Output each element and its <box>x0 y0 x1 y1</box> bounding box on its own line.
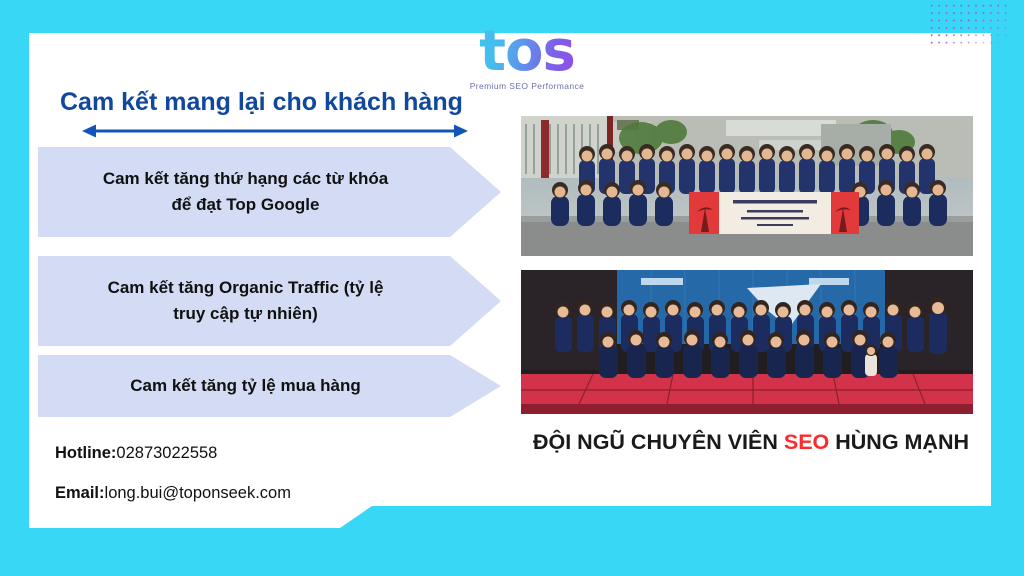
photos-caption-part1: ĐỘI NGŨ CHUYÊN VIÊN <box>533 430 784 454</box>
photos-caption: ĐỘI NGŨ CHUYÊN VIÊN SEO HÙNG MẠNH <box>521 430 981 455</box>
photos-caption-highlight: SEO <box>784 430 829 454</box>
tos-logo: tos Premium SEO Performance <box>452 24 602 96</box>
contact-hotline-label: Hotline: <box>55 444 116 462</box>
commitment-banner-2-line1: Cam kết tăng Organic Traffic (tỷ lệ <box>108 278 384 297</box>
frame-bottom-bar <box>0 506 1024 576</box>
commitment-banner-1: Cam kết tăng thứ hạng các từ khóa để đạt… <box>38 147 501 237</box>
team-group-photo-outdoor <box>521 116 973 256</box>
commitment-banner-3: Cam kết tăng tỷ lệ mua hàng <box>38 355 501 417</box>
contact-email-label: Email: <box>55 484 105 502</box>
photos-caption-part2: HÙNG MẠNH <box>829 430 969 454</box>
contact-email: Email:long.bui@toponseek.com <box>55 484 291 503</box>
commitment-banner-2-line2: truy cập tự nhiên) <box>173 304 318 323</box>
commitment-banner-2: Cam kết tăng Organic Traffic (tỷ lệ truy… <box>38 256 501 346</box>
tos-logo-tagline: Premium SEO Performance <box>452 81 602 91</box>
slide-canvas: tos Premium SEO Performance Cam kết mang… <box>0 0 1024 576</box>
commitment-banner-3-text: Cam kết tăng tỷ lệ mua hàng <box>130 373 361 399</box>
commitment-banner-2-text: Cam kết tăng Organic Traffic (tỷ lệ truy… <box>108 275 384 328</box>
commitment-banner-1-line1: Cam kết tăng thứ hạng các từ khóa <box>103 169 388 188</box>
commitment-banner-1-text: Cam kết tăng thứ hạng các từ khóa để đạt… <box>103 166 388 219</box>
page-title: Cam kết mang lại cho khách hàng <box>60 88 463 117</box>
team-group-photo-stage <box>521 270 973 414</box>
contact-hotline-value: 02873022558 <box>116 444 217 462</box>
contact-email-value: long.bui@toponseek.com <box>105 484 291 502</box>
frame-right-bar <box>991 0 1024 576</box>
frame-left-bar <box>0 0 29 528</box>
double-arrow-icon <box>82 120 468 142</box>
commitment-banner-3-line1: Cam kết tăng tỷ lệ mua hàng <box>130 376 361 395</box>
tos-logo-mark: tos <box>452 24 602 80</box>
commitment-banner-1-line2: để đạt Top Google <box>172 195 320 214</box>
contact-hotline: Hotline:02873022558 <box>55 444 217 463</box>
